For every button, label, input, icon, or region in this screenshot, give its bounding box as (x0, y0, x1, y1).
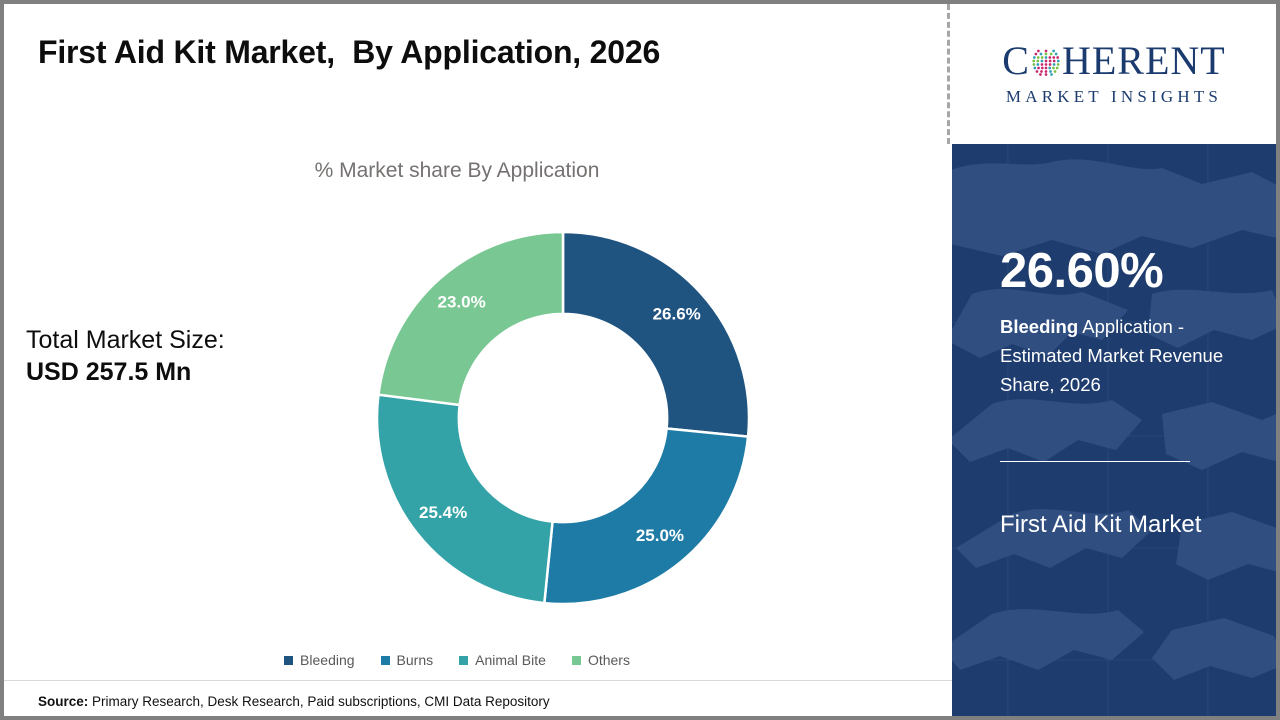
legend-swatch-icon (572, 656, 581, 665)
donut-label-bleeding: 26.6% (653, 305, 701, 324)
donut-slice-animal-bite (377, 395, 553, 603)
legend-item-others[interactable]: Others (572, 652, 630, 668)
donut-slice-group (377, 232, 749, 604)
chart-subtitle: % Market share By Application (4, 159, 910, 183)
donut-slice-bleeding (563, 232, 749, 437)
legend-swatch-icon (284, 656, 293, 665)
globe-dots-icon (1031, 47, 1061, 77)
highlight-panel-content: 26.60% Bleeding Application - Estimated … (1000, 144, 1276, 716)
legend-swatch-icon (459, 656, 468, 665)
donut-label-burns: 25.0% (636, 526, 684, 545)
total-market-size-value: USD 257.5 Mn (26, 356, 225, 388)
infographic-page: First Aid Kit Market, By Application, 20… (0, 0, 1280, 720)
total-market-size-block: Total Market Size: USD 257.5 Mn (26, 324, 225, 388)
source-line: Source: Primary Research, Desk Research,… (38, 694, 550, 709)
source-label: Source: (38, 694, 88, 709)
logo-wordmark: C HERENT (1002, 41, 1225, 81)
donut-label-others: 23.0% (438, 293, 486, 312)
donut-slice-burns (544, 428, 748, 604)
donut-label-animal-bite: 25.4% (419, 503, 467, 522)
legend-item-bleeding[interactable]: Bleeding (284, 652, 355, 668)
brand-logo: C HERENT MARKET INSIGHTS (952, 4, 1276, 144)
right-panel: C HERENT MARKET INSIGHTS (952, 4, 1276, 716)
main-content-area: First Aid Kit Market, By Application, 20… (4, 4, 947, 716)
logo-word-herent: HERENT (1062, 41, 1226, 81)
panel-divider (1000, 461, 1190, 462)
highlight-percent: 26.60% (1000, 247, 1163, 296)
highlight-caption: Bleeding Application - Estimated Market … (1000, 312, 1232, 399)
legend-item-animal-bite[interactable]: Animal Bite (459, 652, 546, 668)
vertical-dashed-divider (947, 4, 950, 144)
source-text: Primary Research, Desk Research, Paid su… (88, 694, 549, 709)
highlight-caption-emphasis: Bleeding (1000, 316, 1078, 337)
highlight-panel: 26.60% Bleeding Application - Estimated … (952, 144, 1276, 716)
legend-item-burns[interactable]: Burns (381, 652, 434, 668)
chart-legend: BleedingBurnsAnimal BiteOthers (4, 652, 910, 668)
total-market-size-label: Total Market Size: (26, 324, 225, 356)
donut-chart: 26.6%25.0%25.4%23.0% (375, 228, 751, 608)
donut-slice-others (378, 232, 563, 405)
legend-label: Bleeding (300, 652, 355, 668)
legend-swatch-icon (381, 656, 390, 665)
logo-letter-c: C (1002, 41, 1030, 81)
legend-label: Others (588, 652, 630, 668)
legend-label: Burns (397, 652, 434, 668)
page-title: First Aid Kit Market, By Application, 20… (38, 34, 660, 71)
panel-market-name: First Aid Kit Market (1000, 504, 1240, 545)
legend-label: Animal Bite (475, 652, 546, 668)
logo-tagline: MARKET INSIGHTS (1006, 87, 1222, 107)
donut-chart-svg: 26.6%25.0%25.4%23.0% (375, 228, 751, 608)
